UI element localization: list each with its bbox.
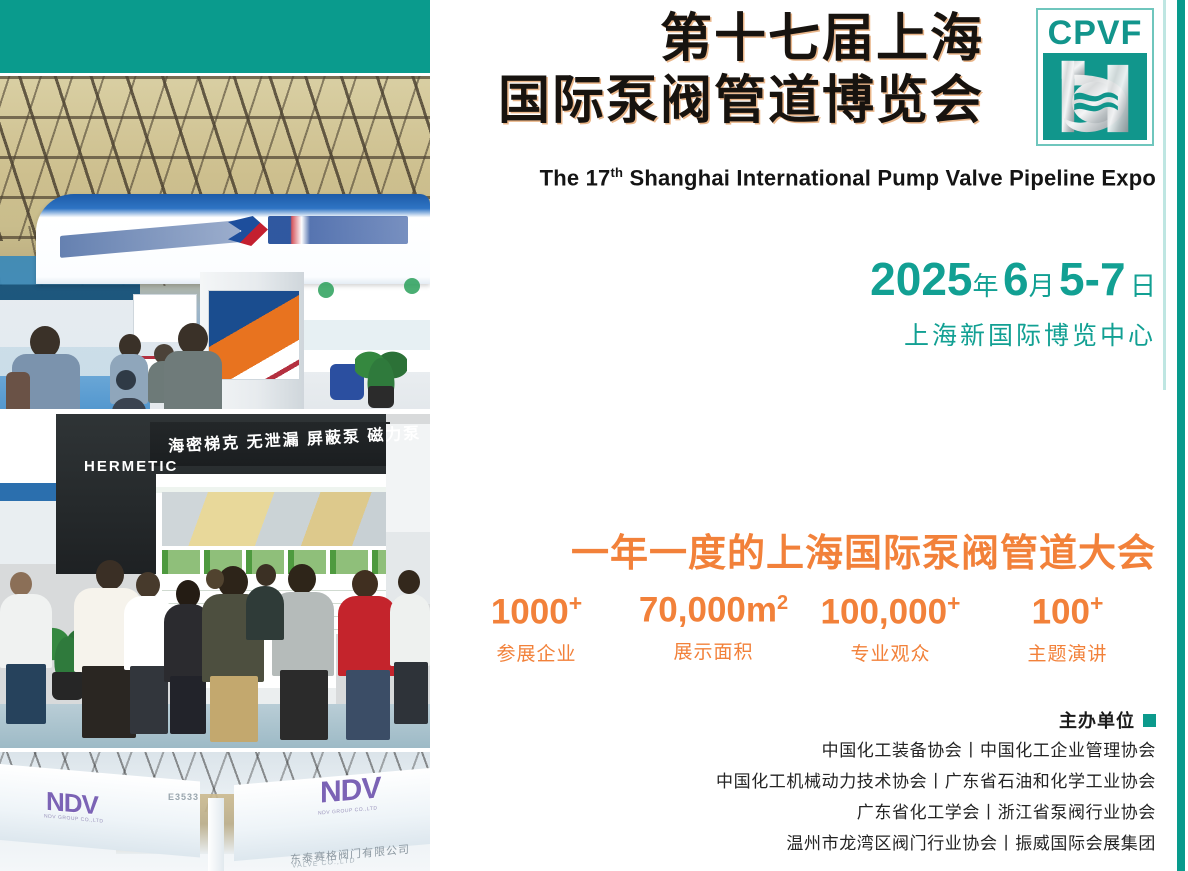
stat-number: 1000+ (448, 583, 625, 633)
hermetic-booth-crowd-photo: HERMETIC 海密梯克 无泄漏 屏蔽泵 磁力泵 (0, 414, 430, 748)
content-area: CPVF (430, 0, 1188, 871)
stat-number: 100,000+ (802, 583, 979, 633)
stat-number: 100+ (979, 583, 1156, 633)
subtitle-ordinal-suffix: th (610, 165, 623, 180)
stat-number-suffix: + (569, 590, 582, 616)
teal-accent-block (0, 0, 430, 73)
stat-number-value: 70,000m (639, 591, 777, 630)
yuanda-valve-group-booth-photo (0, 76, 430, 409)
expo-poster: HERMETIC 海密梯克 无泄漏 屏蔽泵 磁力泵 (0, 0, 1188, 871)
stats-row: 1000+ 参展企业 70,000m2 展示面积 100,000+ 专业观众 1… (448, 583, 1156, 666)
stat-number-sup: 2 (777, 592, 788, 614)
organizers-list: 中国化工装备协会丨中国化工企业管理协会 中国化工机械动力技术协会丨广东省石油和化… (430, 736, 1156, 860)
date-year: 2025 (870, 253, 972, 305)
organizers-header-label: 主办单位 (1059, 711, 1135, 732)
event-date: 2025年 6月 5-7 日 (430, 252, 1156, 306)
organizer-line: 温州市龙湾区阀门行业协会丨振威国际会展集团 (430, 829, 1156, 860)
stat-number-value: 100 (1032, 593, 1090, 632)
edge-stripe-teal (1177, 0, 1185, 871)
organizer-line: 中国化工装备协会丨中国化工企业管理协会 (430, 736, 1156, 767)
english-subtitle: The 17th Shanghai International Pump Val… (430, 165, 1156, 191)
date-days: 5-7 (1059, 253, 1125, 305)
organizer-line: 中国化工机械动力技术协会丨广东省石油和化学工业协会 (430, 767, 1156, 798)
organizers-header: 主办单位 (430, 707, 1156, 733)
stat-label: 展示面积 (625, 637, 802, 664)
stat-item: 1000+ 参展企业 (448, 583, 625, 666)
stat-item: 100+ 主题演讲 (979, 583, 1156, 666)
date-month: 6 (1003, 253, 1029, 305)
stat-number-value: 1000 (491, 593, 569, 632)
poster-title: 第十七届上海 国际泵阀管道博览会 (430, 8, 1156, 132)
stat-number: 70,000m2 (625, 583, 802, 631)
date-month-unit: 月 (1029, 272, 1055, 302)
stat-number-value: 100,000 (821, 593, 948, 632)
subtitle-rest: Shanghai International Pump Valve Pipeli… (623, 165, 1156, 190)
ndv-brand-right: NDV (320, 771, 380, 810)
stat-label: 专业观众 (802, 639, 979, 666)
ndv-valve-booth-photo: NDV NDV GROUP CO.,LTD NDV NDV GROUP CO.,… (0, 752, 430, 871)
event-venue: 上海新国际博览中心 (430, 316, 1156, 352)
stat-item: 100,000+ 专业观众 (802, 583, 979, 666)
stat-number-suffix: + (947, 590, 960, 616)
edge-stripe-light (1163, 0, 1166, 390)
booth-number: E3533 (168, 792, 199, 802)
stat-label: 主题演讲 (979, 639, 1156, 666)
hermetic-brand-text: HERMETIC (84, 458, 178, 475)
stat-item: 70,000m2 展示面积 (625, 583, 802, 664)
organizer-line: 广东省化工学会丨浙江省泵阀行业协会 (430, 798, 1156, 829)
event-headline: 一年一度的上海国际泵阀管道大会 (430, 522, 1156, 577)
title-line-2: 国际泵阀管道博览会 (430, 70, 984, 132)
date-year-unit: 年 (973, 272, 999, 302)
title-line-1: 第十七届上海 (430, 8, 984, 70)
subtitle-prefix: The 17 (540, 165, 611, 190)
photo-column: HERMETIC 海密梯克 无泄漏 屏蔽泵 磁力泵 (0, 0, 430, 871)
date-day-unit: 日 (1130, 272, 1156, 302)
stat-number-suffix: + (1090, 590, 1103, 616)
stat-label: 参展企业 (448, 639, 625, 666)
teal-square-icon (1143, 714, 1156, 727)
